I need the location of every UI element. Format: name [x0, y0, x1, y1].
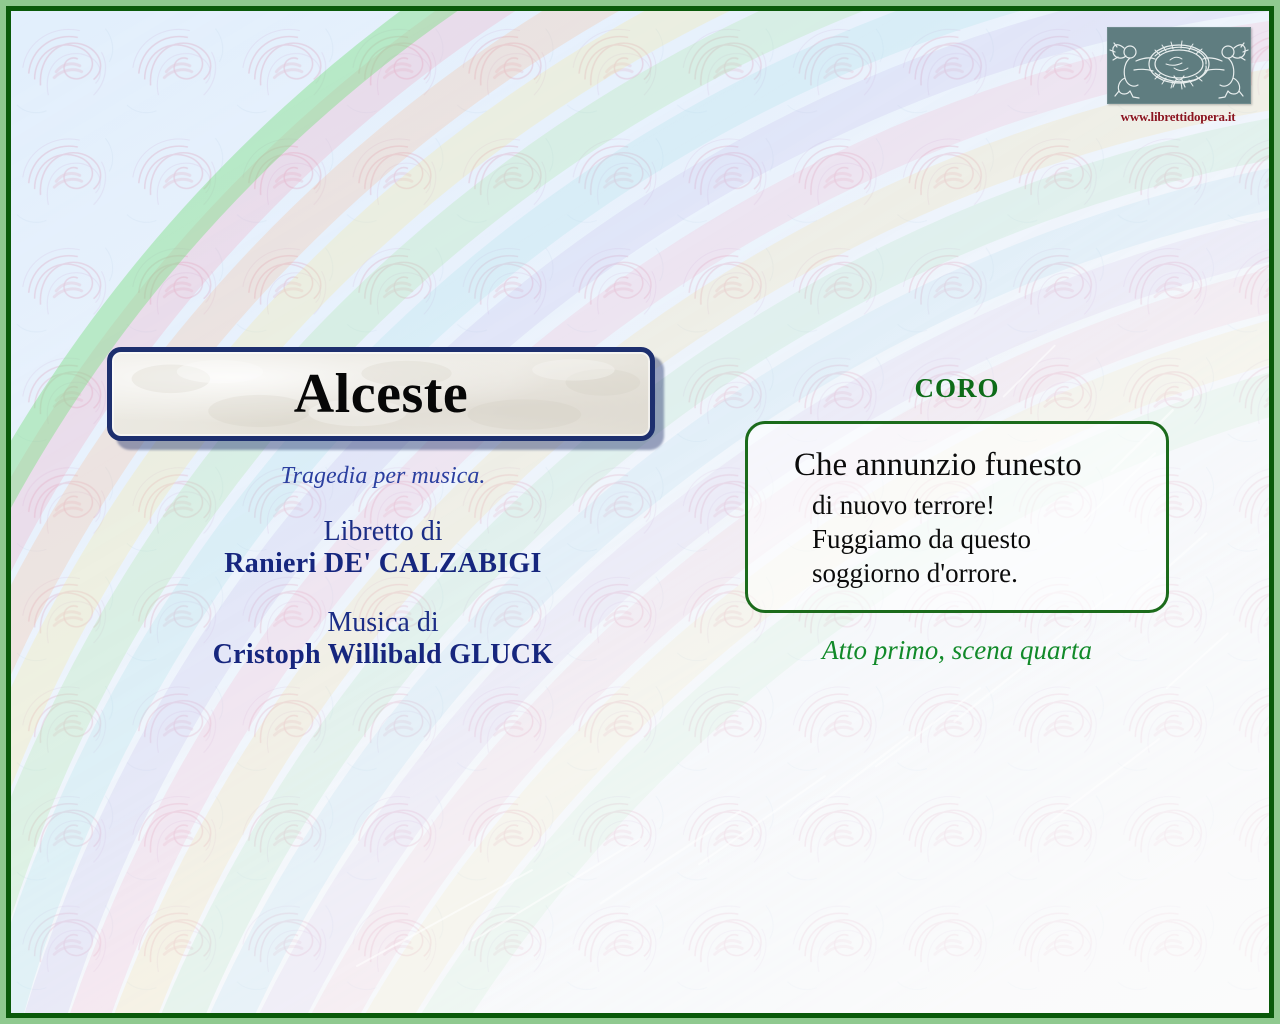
- title-plate-wrapper: Alceste: [107, 347, 655, 441]
- decorative-frame: www.librettidopera.it: [6, 6, 1274, 1018]
- music-author-name: Cristoph Willibald GLUCK: [107, 638, 659, 672]
- cherub-wreath-emblem-icon: [1107, 27, 1251, 104]
- libretto-credit: Libretto di Ranieri DE' CALZABIGI: [107, 516, 659, 581]
- opera-subtitle: Tragedia per musica.: [107, 463, 659, 490]
- libretto-role-label: Libretto di: [107, 516, 659, 547]
- page-root: www.librettidopera.it: [0, 0, 1280, 1024]
- excerpt-scene-label: Atto primo, scena quarta: [745, 635, 1169, 666]
- title-plate: Alceste: [107, 347, 655, 441]
- libretto-author-name: Ranieri DE' CALZABIGI: [107, 547, 659, 581]
- logo-caption: www.librettidopera.it: [1107, 109, 1249, 125]
- site-logo[interactable]: www.librettidopera.it: [1107, 27, 1249, 125]
- excerpt-lines: Che annunzio funesto di nuovo terrore! F…: [766, 446, 1148, 590]
- music-role-label: Musica di: [107, 607, 659, 638]
- music-credit: Musica di Cristoph Willibald GLUCK: [107, 607, 659, 672]
- excerpt-line: di nuovo terrore!: [812, 488, 1148, 522]
- excerpt-column: CORO Che annunzio funesto di nuovo terro…: [745, 373, 1169, 666]
- excerpt-quote-box: Che annunzio funesto di nuovo terrore! F…: [745, 421, 1169, 613]
- page-title: Alceste: [294, 366, 469, 422]
- excerpt-line: soggiorno d'orrore.: [812, 556, 1148, 590]
- opera-info-column: Alceste Tragedia per musica. Libretto di…: [107, 347, 659, 672]
- excerpt-line: Fuggiamo da questo: [812, 522, 1148, 556]
- excerpt-line: Che annunzio funesto: [794, 446, 1148, 486]
- excerpt-speaker-label: CORO: [745, 373, 1169, 404]
